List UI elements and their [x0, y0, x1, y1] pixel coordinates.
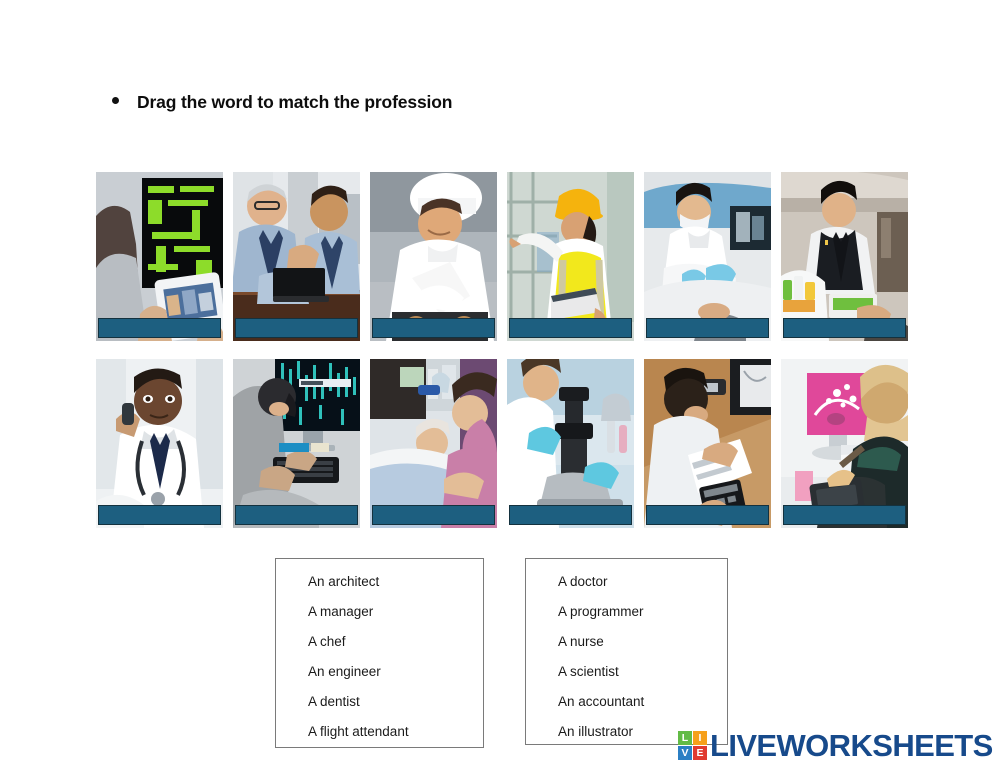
word-item-an-architect[interactable]: An architect [276, 567, 483, 597]
drop-zone-illustrator[interactable] [783, 505, 906, 525]
word-item-a-scientist[interactable]: A scientist [526, 657, 727, 687]
word-bank-right: A doctor A programmer A nurse A scientis… [525, 558, 728, 745]
logo-tile-v: V [678, 746, 692, 760]
flight-attendant-photo [781, 172, 908, 341]
card-dentist[interactable] [644, 172, 771, 341]
card-illustrator[interactable] [781, 359, 908, 528]
chef-photo [370, 172, 497, 341]
card-programmer[interactable] [233, 359, 360, 528]
liveworksheets-logo: L I V E LIVEWORKSHEETS [678, 730, 993, 761]
drop-zone-programmer[interactable] [235, 505, 358, 525]
word-item-a-chef[interactable]: A chef [276, 627, 483, 657]
card-doctor[interactable] [96, 359, 223, 528]
logo-tile-l: L [678, 731, 692, 745]
card-manager[interactable] [233, 172, 360, 341]
logo-wordmark: LIVEWORKSHEETS [710, 730, 993, 761]
word-bank-left: An architect A manager A chef An enginee… [275, 558, 484, 748]
word-item-a-manager[interactable]: A manager [276, 597, 483, 627]
drop-zone-flight-attendant[interactable] [783, 318, 906, 338]
drop-zone-chef[interactable] [372, 318, 495, 338]
word-item-an-accountant[interactable]: An accountant [526, 687, 727, 717]
doctor-photo [96, 359, 223, 528]
card-engineer[interactable] [507, 172, 634, 341]
programmer-photo [233, 359, 360, 528]
drop-zone-dentist[interactable] [646, 318, 769, 338]
engineer-photo [507, 172, 634, 341]
dentist-photo [644, 172, 771, 341]
instruction-text: Drag the word to match the profession [137, 92, 452, 113]
word-item-an-engineer[interactable]: An engineer [276, 657, 483, 687]
bullet-icon [112, 97, 119, 104]
manager-photo [233, 172, 360, 341]
drop-zone-engineer[interactable] [509, 318, 632, 338]
card-flight-attendant[interactable] [781, 172, 908, 341]
drop-zone-manager[interactable] [235, 318, 358, 338]
card-chef[interactable] [370, 172, 497, 341]
illustrator-photo [781, 359, 908, 528]
drop-zone-architect[interactable] [98, 318, 221, 338]
instruction-row: Drag the word to match the profession [112, 92, 452, 113]
drop-zone-accountant[interactable] [646, 505, 769, 525]
card-accountant[interactable] [644, 359, 771, 528]
card-scientist[interactable] [507, 359, 634, 528]
architect-photo [96, 172, 223, 341]
logo-tile-i: I [693, 731, 707, 745]
card-nurse[interactable] [370, 359, 497, 528]
word-item-a-dentist[interactable]: A dentist [276, 687, 483, 717]
profession-card-row-2 [96, 359, 908, 528]
word-item-a-flight-attendant[interactable]: A flight attendant [276, 717, 483, 747]
scientist-photo [507, 359, 634, 528]
word-item-a-programmer[interactable]: A programmer [526, 597, 727, 627]
drop-zone-nurse[interactable] [372, 505, 495, 525]
word-item-a-nurse[interactable]: A nurse [526, 627, 727, 657]
accountant-photo [644, 359, 771, 528]
profession-card-row-1 [96, 172, 908, 341]
card-architect[interactable] [96, 172, 223, 341]
drop-zone-doctor[interactable] [98, 505, 221, 525]
logo-tiles-icon: L I V E [678, 731, 707, 760]
logo-tile-e: E [693, 746, 707, 760]
nurse-photo [370, 359, 497, 528]
drop-zone-scientist[interactable] [509, 505, 632, 525]
word-item-a-doctor[interactable]: A doctor [526, 567, 727, 597]
